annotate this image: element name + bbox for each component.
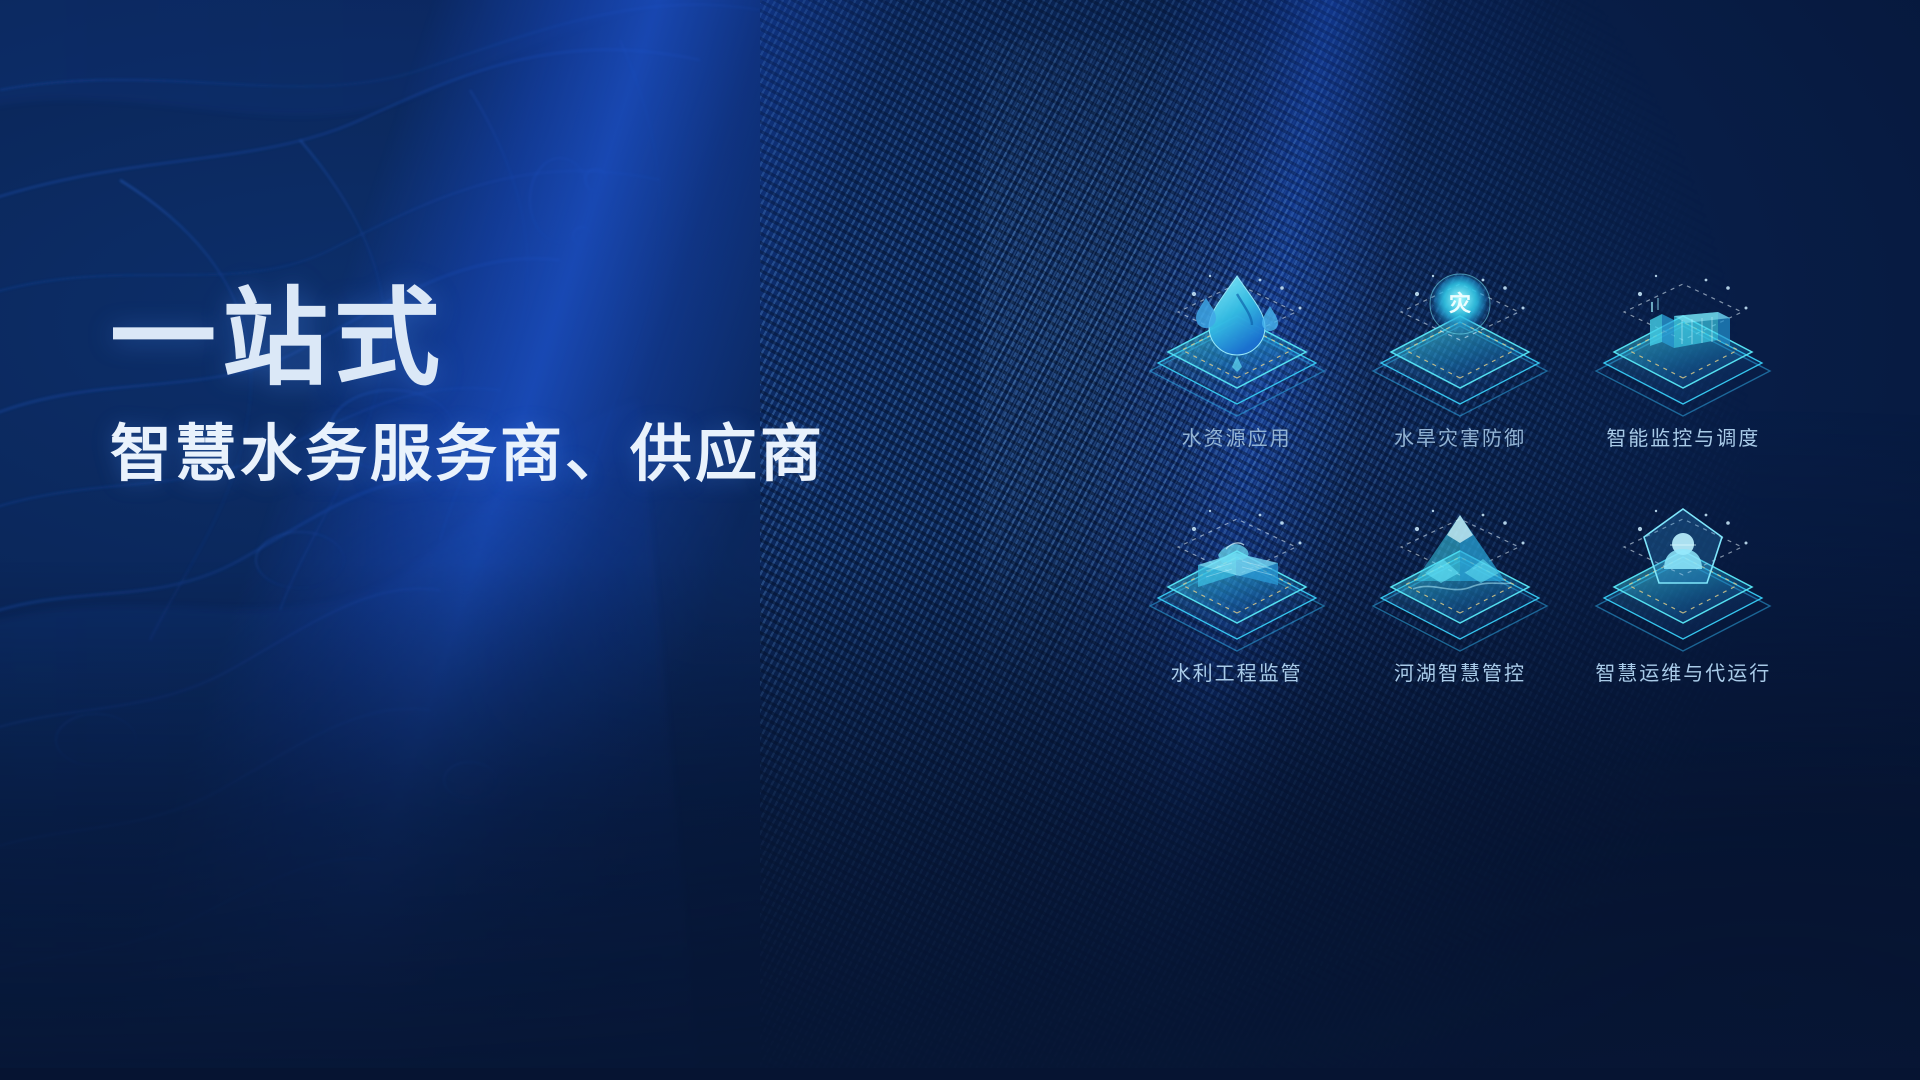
service-card-label: 河湖智慧管控 — [1353, 657, 1566, 686]
shield-operations-icon — [1577, 503, 1790, 653]
isometric-platform — [1578, 268, 1788, 418]
service-card-smart-operations[interactable]: 智慧运维与代运行 — [1577, 503, 1790, 686]
isometric-platform — [1132, 503, 1342, 653]
isometric-platform — [1355, 503, 1565, 653]
service-card-project-supervision[interactable]: 水利工程监管 — [1130, 503, 1343, 686]
disaster-sphere-icon: 灾 — [1353, 268, 1566, 418]
isometric-platform: 灾 — [1355, 268, 1565, 418]
water-drop-platform-icon — [1130, 268, 1343, 418]
service-card-label: 水资源应用 — [1130, 422, 1343, 451]
isometric-platform — [1578, 503, 1788, 653]
service-card-label: 水旱灾害防御 — [1353, 422, 1566, 451]
service-card-flood-drought[interactable]: 灾 水旱灾害防御 — [1353, 268, 1566, 451]
service-card-water-resource[interactable]: 水资源应用 — [1130, 268, 1343, 451]
dam-control-platform-icon — [1577, 268, 1790, 418]
badge-glyph: 灾 — [1449, 291, 1472, 316]
hero-headline: 一站式 智慧水务服务商、供应商 — [110, 282, 970, 492]
reservoir-platform-icon — [1130, 503, 1343, 653]
service-icon-grid: 水资源应用 — [1130, 268, 1790, 686]
background-bottom-bar — [0, 1068, 1920, 1080]
mountain-river-platform-icon — [1353, 503, 1566, 653]
slide-canvas: 一站式 智慧水务服务商、供应商 — [0, 0, 1920, 1080]
isometric-platform — [1132, 268, 1342, 418]
service-card-smart-monitor[interactable]: 智能监控与调度 — [1577, 268, 1790, 451]
service-card-label: 智慧运维与代运行 — [1577, 657, 1790, 686]
service-card-river-lake-control[interactable]: 河湖智慧管控 — [1353, 503, 1566, 686]
page-subtitle: 智慧水务服务商、供应商 — [110, 418, 970, 491]
service-card-label: 水利工程监管 — [1130, 657, 1343, 686]
page-title: 一站式 — [110, 282, 970, 396]
service-card-label: 智能监控与调度 — [1577, 422, 1790, 451]
